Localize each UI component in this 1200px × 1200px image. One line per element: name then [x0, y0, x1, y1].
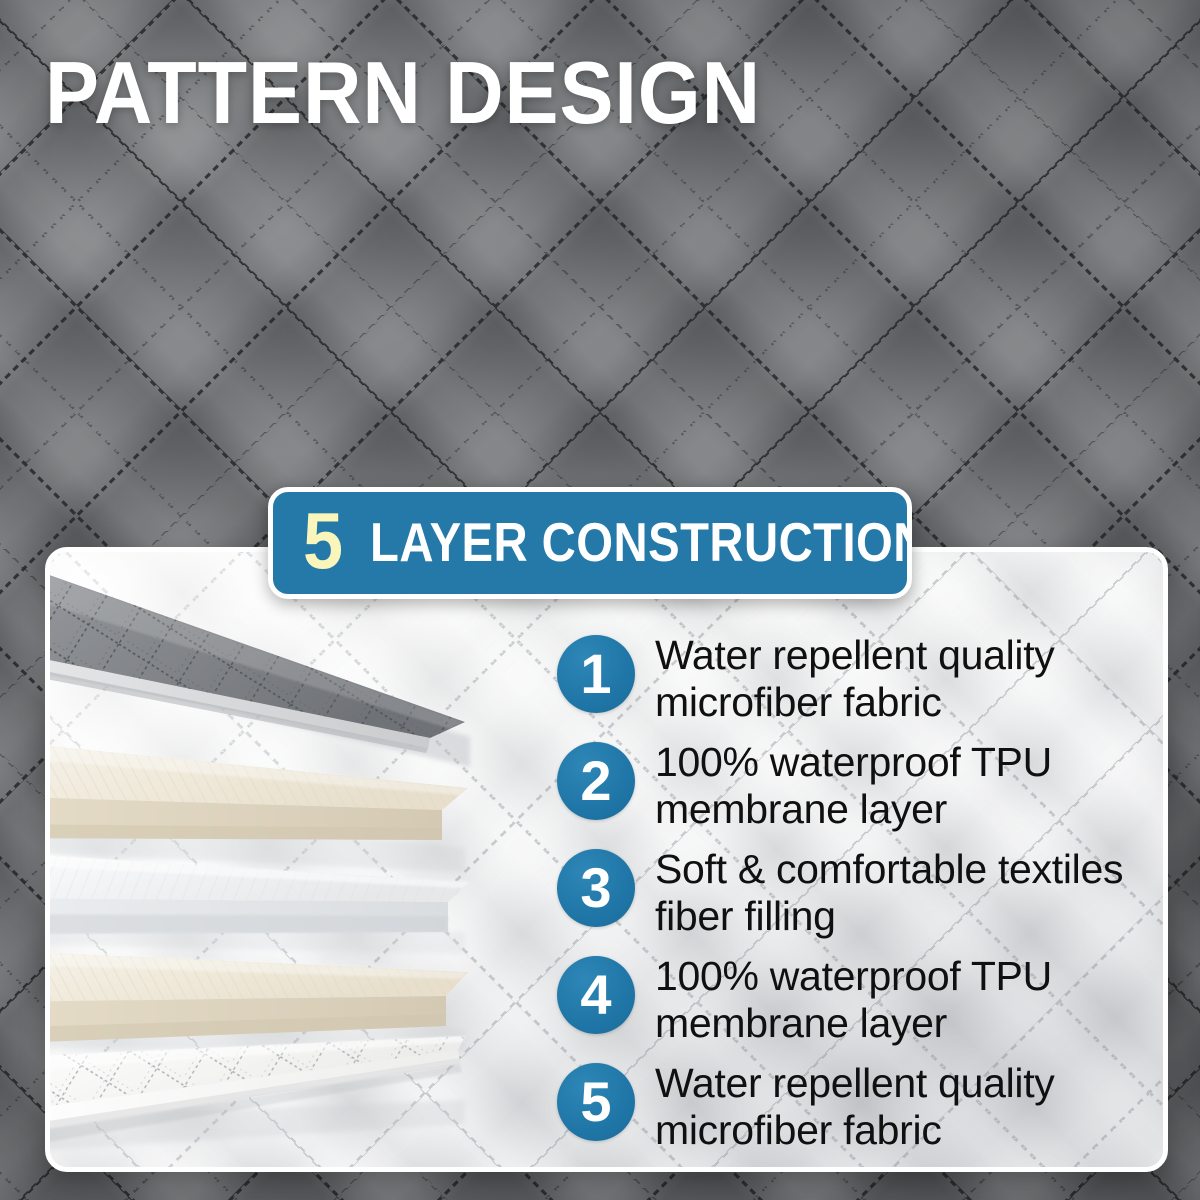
banner-label: LAYER CONSTRUCTION: [370, 515, 913, 570]
layer-list: 1 Water repellent quality microfiber fab…: [557, 630, 1177, 1165]
page-title: PATTERN DESIGN: [45, 49, 761, 137]
list-item: 2 100% waterproof TPU membrane layer: [557, 737, 1177, 844]
layer-description-line1: Water repellent quality: [655, 632, 1055, 679]
layer-number-badge: 3: [557, 849, 635, 927]
list-item: 4 100% waterproof TPU membrane layer: [557, 951, 1177, 1058]
layer-description: Water repellent quality microfiber fabri…: [655, 1058, 1055, 1154]
layer-number-badge: 5: [557, 1063, 635, 1141]
layer-description-line2: microfiber fabric: [655, 1107, 1055, 1154]
layer-description-line1: 100% waterproof TPU: [655, 739, 1052, 786]
infographic-canvas: PATTERN DESIGN: [0, 0, 1200, 1200]
list-item: 1 Water repellent quality microfiber fab…: [557, 630, 1177, 737]
layer-construction-banner: 5 LAYER CONSTRUCTION: [268, 487, 912, 599]
layer-description: 100% waterproof TPU membrane layer: [655, 951, 1052, 1047]
layer-description: Soft & comfortable textiles fiber fillin…: [655, 844, 1123, 940]
list-item: 3 Soft & comfortable textiles fiber fill…: [557, 844, 1177, 951]
slab-layer-5-white-quilted: [50, 1036, 465, 1152]
slab-layer-2-cream-tpu: [50, 740, 468, 872]
list-item: 5 Water repellent quality microfiber fab…: [557, 1058, 1177, 1165]
layer-description-line1: Soft & comfortable textiles: [655, 846, 1123, 893]
layer-description-line2: membrane layer: [655, 1000, 1052, 1047]
layer-description-line2: microfiber fabric: [655, 679, 1055, 726]
layer-stack-illustration: [50, 552, 520, 1172]
layer-description: 100% waterproof TPU membrane layer: [655, 737, 1052, 833]
layer-number-badge: 4: [557, 956, 635, 1034]
slab-layer-4-cream-tpu: [50, 950, 468, 1052]
layer-description: Water repellent quality microfiber fabri…: [655, 630, 1055, 726]
layer-description-line2: membrane layer: [655, 786, 1052, 833]
layer-description-line1: 100% waterproof TPU: [655, 953, 1052, 1000]
layer-description-line2: fiber filling: [655, 893, 1123, 940]
banner-layer-count: 5: [303, 501, 343, 581]
layer-number-badge: 2: [557, 742, 635, 820]
layer-number-badge: 1: [557, 635, 635, 713]
layer-description-line1: Water repellent quality: [655, 1060, 1055, 1107]
